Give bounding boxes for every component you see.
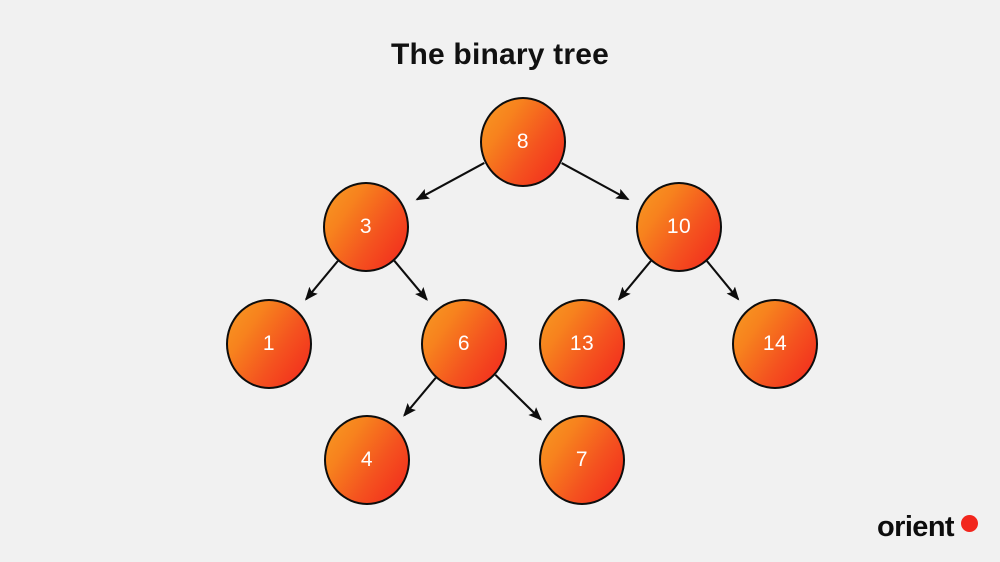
tree-edge-8-to-3 xyxy=(417,163,484,199)
tree-edge-3-to-6 xyxy=(394,261,427,300)
tree-node-label: 14 xyxy=(763,332,787,356)
tree-node-label: 10 xyxy=(667,215,691,239)
tree-edge-6-to-4 xyxy=(404,378,436,416)
tree-node-label: 1 xyxy=(263,332,275,356)
tree-node-10[interactable]: 10 xyxy=(636,182,722,272)
brand-wordmark: orient xyxy=(877,513,954,542)
tree-node-label: 6 xyxy=(458,332,470,356)
tree-edge-10-to-13 xyxy=(619,261,651,299)
tree-node-label: 4 xyxy=(361,448,373,472)
tree-edge-3-to-1 xyxy=(306,261,338,299)
tree-node-label: 8 xyxy=(517,130,529,154)
tree-node-8[interactable]: 8 xyxy=(480,97,566,187)
brand-logo: orient xyxy=(877,513,978,542)
tree-node-4[interactable]: 4 xyxy=(324,415,410,505)
page-title: The binary tree xyxy=(0,38,1000,72)
tree-node-6[interactable]: 6 xyxy=(421,299,507,389)
tree-node-label: 13 xyxy=(570,332,594,356)
tree-edge-6-to-7 xyxy=(495,375,540,419)
tree-node-7[interactable]: 7 xyxy=(539,415,625,505)
tree-node-1[interactable]: 1 xyxy=(226,299,312,389)
tree-node-13[interactable]: 13 xyxy=(539,299,625,389)
tree-edge-layer xyxy=(0,0,1000,562)
tree-edge-10-to-14 xyxy=(707,261,738,299)
tree-node-3[interactable]: 3 xyxy=(323,182,409,272)
tree-node-label: 3 xyxy=(360,215,372,239)
tree-edge-8-to-10 xyxy=(562,163,628,199)
tree-node-14[interactable]: 14 xyxy=(732,299,818,389)
brand-dot-icon xyxy=(961,515,978,532)
tree-node-label: 7 xyxy=(576,448,588,472)
